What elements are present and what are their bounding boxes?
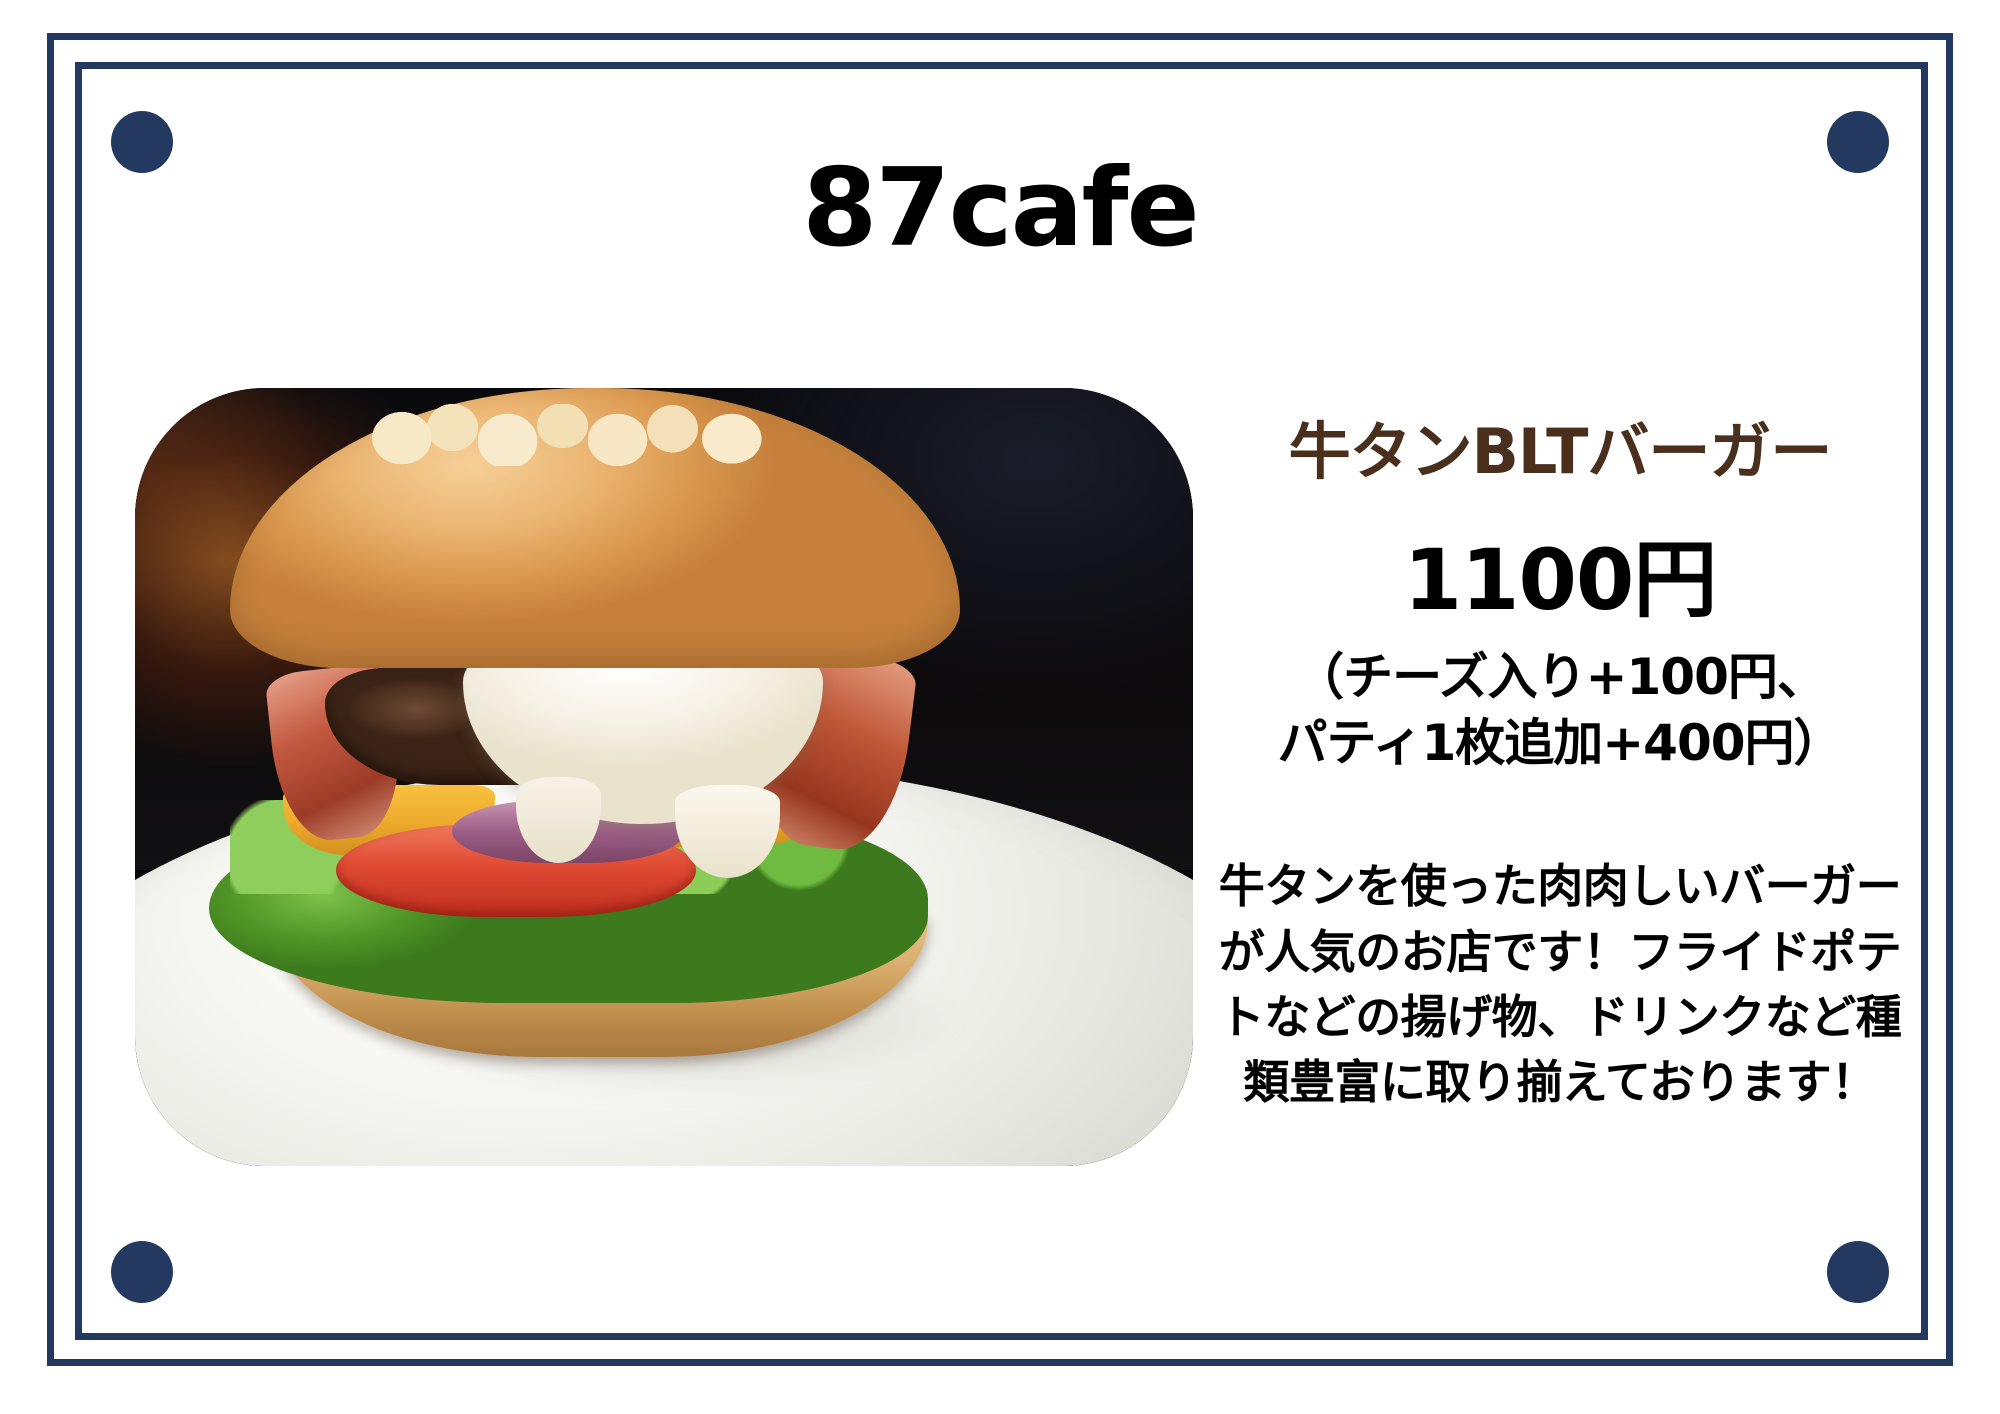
item-price: 1100円 [1210,538,1910,622]
price-note-line-1: （チーズ入り+100円、 [1210,644,1910,710]
menu-poster: 87cafe 牛タンBLTバーガー 1100円 （チーズ [0,0,2000,1414]
description-line-4: 類豊富に取り揃えております！ [1210,1050,1910,1115]
item-description: 牛タンを使った肉肉しいバーガー が人気のお店です！フライドポテ トなどの揚げ物、… [1210,854,1910,1115]
corner-dot-bottom-right [1827,1241,1889,1303]
description-line-1: 牛タンを使った肉肉しいバーガー [1210,854,1910,919]
item-name: 牛タンBLTバーガー [1210,418,1910,486]
price-note-line-2: パティ1枚追加+400円） [1210,710,1910,776]
corner-dot-bottom-left [111,1241,173,1303]
description-line-2: が人気のお店です！フライドポテ [1210,920,1910,985]
burger-photo-canvas [135,388,1193,1166]
burger-photo [135,388,1193,1166]
description-line-3: トなどの揚げ物、ドリンクなど種 [1210,985,1910,1050]
item-price-note: （チーズ入り+100円、 パティ1枚追加+400円） [1210,644,1910,776]
sesame-seeds-shape [368,404,791,466]
item-info-panel: 牛タンBLTバーガー 1100円 （チーズ入り+100円、 パティ1枚追加+40… [1210,418,1910,1115]
shop-title: 87cafe [0,155,2000,263]
